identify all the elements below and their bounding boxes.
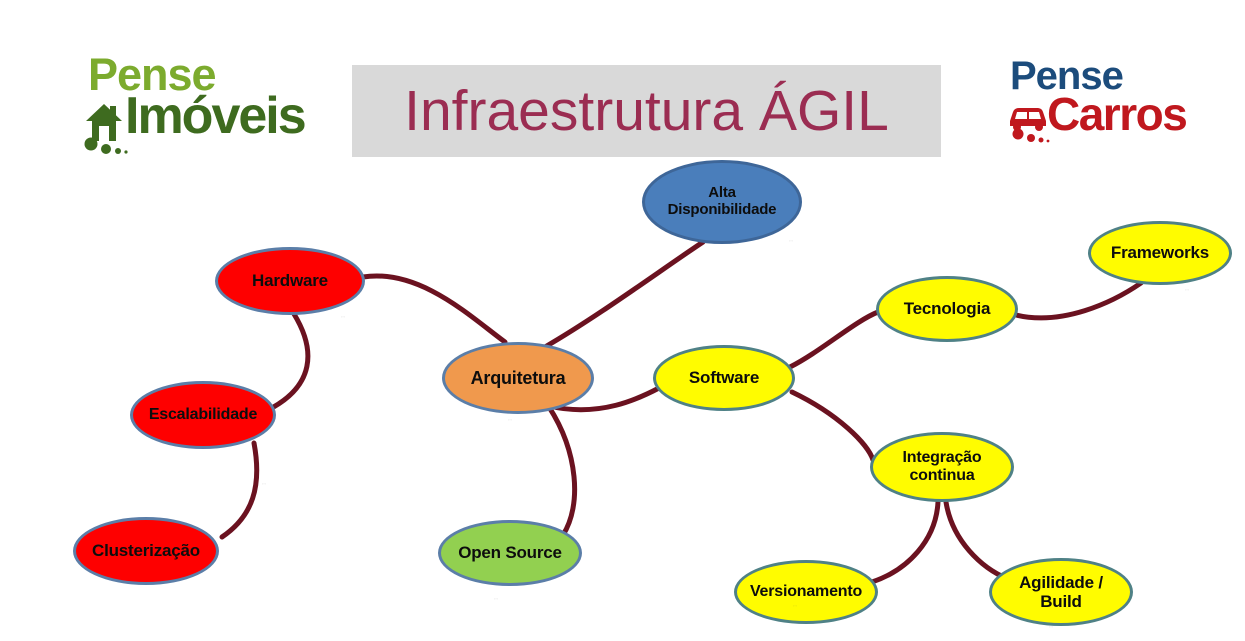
node-label-alta-disponibilidade: AltaDisponibilidade [664,185,781,219]
node-label-open-source: Open Source [454,543,566,562]
node-label-versionamento: Versionamento [746,583,866,601]
node-escalabilidade[interactable]: Escalabilidade [130,381,276,449]
node-frameworks[interactable]: Frameworks [1088,221,1232,285]
node-open-source[interactable]: Open Source [438,520,582,586]
node-label-frameworks: Frameworks [1107,243,1213,262]
node-label-tecnologia: Tecnologia [900,299,994,318]
residual-mark: ▫ ▫ [793,604,797,608]
node-tecnologia[interactable]: Tecnologia [876,276,1018,342]
node-integracao-continua[interactable]: Integraçãocontinua [870,432,1014,502]
node-alta-disponibilidade[interactable]: AltaDisponibilidade [642,160,802,244]
residual-mark: ▫ ▫ [1049,625,1053,629]
edge-escalabilidade-to-clusterizacao [222,443,257,537]
node-label-escalabilidade: Escalabilidade [145,406,261,424]
edge-arquitetura-to-alta-disponibilidade [545,242,703,347]
edge-hardware-to-escalabilidade [268,314,308,410]
edge-integracao-continua-to-agilidade-build [946,502,1008,579]
node-label-hardware: Hardware [248,271,332,290]
residual-mark: ▫ ▫ [789,239,793,243]
node-arquitetura[interactable]: Arquitetura [442,342,594,414]
node-label-agilidade-build: Agilidade /Build [1015,573,1107,611]
node-label-software: Software [685,368,763,387]
residual-mark: ▫ ▫ [508,418,512,422]
edge-hardware-to-arquitetura [363,276,505,342]
residual-mark: ▫ ▫ [262,482,266,486]
node-agilidade-build[interactable]: Agilidade /Build [989,558,1133,626]
node-label-integracao-continua: Integraçãocontinua [899,449,986,485]
residual-mark: ▫ ▫ [341,315,345,319]
mindmap-canvas: AltaDisponibilidadeHardwareEscalabilidad… [0,0,1245,641]
node-clusterizacao[interactable]: Clusterização [73,517,219,585]
node-label-clusterizacao: Clusterização [88,541,204,560]
node-hardware[interactable]: Hardware [215,247,365,315]
edge-tecnologia-to-frameworks [1016,283,1141,318]
node-versionamento[interactable]: Versionamento [734,560,878,624]
residual-mark: ▫ ▫ [1185,288,1189,292]
edge-integracao-continua-to-versionamento [872,502,938,582]
node-software[interactable]: Software [653,345,795,411]
residual-mark: ▫ ▫ [494,597,498,601]
edge-arquitetura-to-open-source [549,407,575,535]
edge-software-to-tecnologia [790,312,878,367]
edge-software-to-integracao-continua [792,392,873,460]
node-label-arquitetura: Arquitetura [467,368,570,388]
